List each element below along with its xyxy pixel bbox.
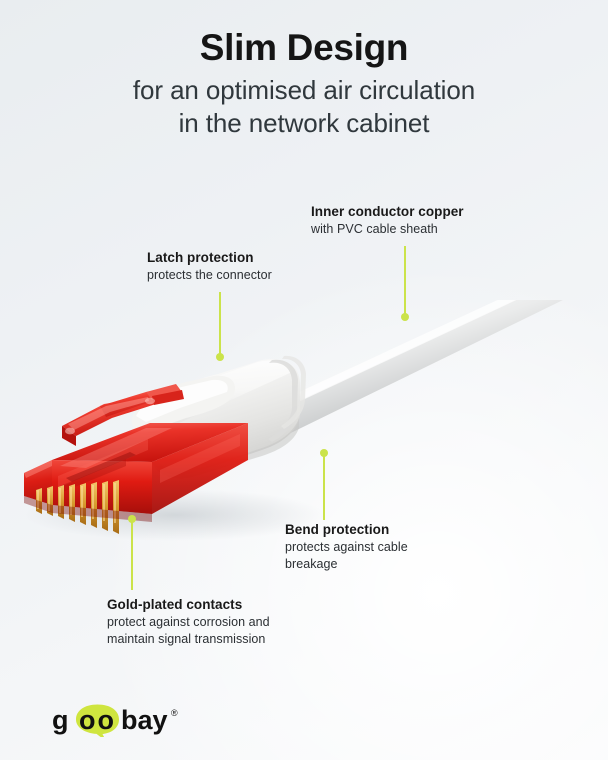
callout-subtitle-line-1: protect against corrosion and <box>107 614 270 631</box>
logo-text-g: g <box>52 705 69 735</box>
callout-subtitle-line-1: protects against cable <box>285 539 408 556</box>
callout-subtitle-line-2: maintain signal transmission <box>107 631 270 648</box>
callout-inner-conductor: Inner conductor copper with PVC cable sh… <box>311 203 464 238</box>
logo-text-oo: oo <box>79 705 116 735</box>
callout-title: Gold-plated contacts <box>107 596 270 614</box>
leader-dot <box>216 353 224 361</box>
leader-line-bend-protection <box>320 452 328 520</box>
page-subtitle-line-1: for an optimised air circulation <box>0 74 608 107</box>
leader-stem <box>219 292 221 358</box>
callout-gold-plated-contacts: Gold-plated contacts protect against cor… <box>107 596 270 649</box>
callout-subtitle: with PVC cable sheath <box>311 221 464 238</box>
callout-subtitle-line-1: with PVC cable sheath <box>311 221 464 238</box>
page-title: Slim Design <box>0 26 608 70</box>
infographic-poster: Slim Design for an optimised air circula… <box>0 0 608 760</box>
callout-title: Inner conductor copper <box>311 203 464 221</box>
leader-dot <box>128 515 136 523</box>
leader-dot <box>401 313 409 321</box>
leader-line-latch-protection <box>216 292 224 358</box>
leader-line-inner-conductor <box>401 246 409 318</box>
callout-bend-protection: Bend protection protects against cable b… <box>285 521 408 574</box>
logo-registered-mark: ® <box>171 708 178 718</box>
callout-subtitle: protect against corrosion and maintain s… <box>107 614 270 649</box>
callout-subtitle-line-2: breakage <box>285 556 408 573</box>
leader-dot <box>320 449 328 457</box>
page-subtitle: for an optimised air circulation in the … <box>0 74 608 141</box>
page-subtitle-line-2: in the network cabinet <box>0 107 608 140</box>
callout-subtitle: protects the connector <box>147 267 272 284</box>
leader-stem <box>131 518 133 590</box>
leader-line-gold-plated-contacts <box>128 518 136 590</box>
callout-latch-protection: Latch protection protects the connector <box>147 249 272 284</box>
leader-stem <box>323 452 325 520</box>
goobay-logo: g oo bay ® <box>52 703 222 737</box>
callout-subtitle: protects against cable breakage <box>285 539 408 574</box>
callout-subtitle-line-1: protects the connector <box>147 267 272 284</box>
heading-block: Slim Design for an optimised air circula… <box>0 26 608 140</box>
leader-stem <box>404 246 406 318</box>
callout-title: Latch protection <box>147 249 272 267</box>
callout-title: Bend protection <box>285 521 408 539</box>
logo-text-bay: bay <box>121 705 168 735</box>
